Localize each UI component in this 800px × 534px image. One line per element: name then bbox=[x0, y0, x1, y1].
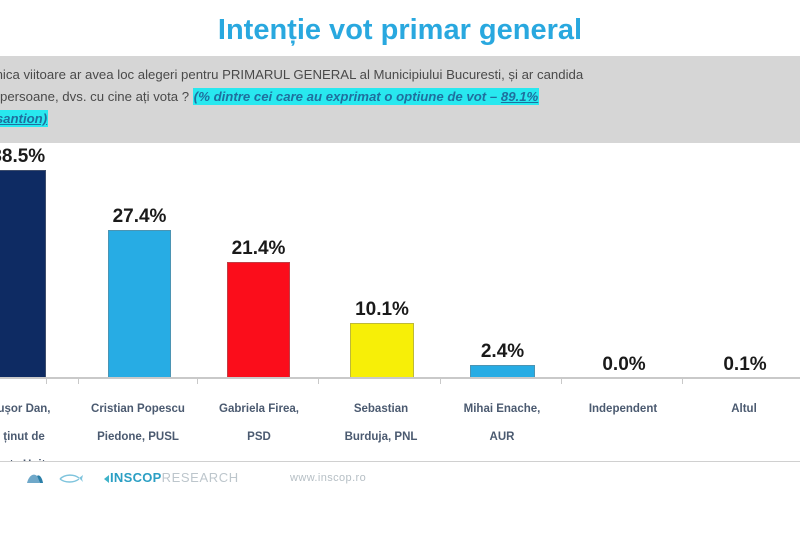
inscop-logo: INSCOPRESEARCH bbox=[104, 470, 239, 485]
x-label-cristian-popescu-piedone: Cristian Popescu Piedone, PUSL bbox=[78, 388, 198, 458]
x-label-line: Burduja, PNL bbox=[321, 430, 441, 444]
x-axis-tick bbox=[682, 378, 683, 384]
x-label-line: Piedone, PUSL bbox=[78, 430, 198, 444]
bar-sebastian-burduja bbox=[350, 323, 414, 378]
question-highlight: (% dintre cei care au exprimat o optiune… bbox=[193, 88, 539, 105]
fish-logo-icon bbox=[58, 473, 84, 484]
x-label-line: Mihai Enache, bbox=[442, 402, 562, 416]
x-label-line: Cristian Popescu bbox=[78, 402, 198, 416]
x-label-line: ușor Dan, bbox=[0, 402, 70, 416]
bar-cristian-popescu-piedone bbox=[108, 230, 171, 378]
x-label-gabriela-firea: Gabriela Firea, PSD bbox=[199, 388, 319, 458]
question-line-1: ă duminica viitoare ar avea loc alegeri … bbox=[0, 64, 800, 86]
bar-value-5: 2.4% bbox=[481, 341, 524, 363]
slide-root: Intenție vot primar general ă duminica v… bbox=[0, 0, 800, 534]
x-axis-tick bbox=[46, 378, 47, 384]
question-line-2-plain: toarele persoane, dvs. cu cine ați vota … bbox=[0, 89, 193, 104]
x-label-altul: Altul bbox=[685, 388, 800, 430]
question-highlight-text: (% dintre cei care au exprimat o optiune… bbox=[194, 89, 501, 104]
x-axis-line bbox=[0, 377, 800, 379]
question-line-2: toarele persoane, dvs. cu cine ați vota … bbox=[0, 86, 800, 108]
x-axis-tick bbox=[561, 378, 562, 384]
bottom-spacer bbox=[0, 501, 800, 534]
bar-gabriela-firea bbox=[227, 262, 290, 378]
inscop-brand-main: INSCOP bbox=[110, 470, 162, 485]
footer: INSCOPRESEARCH www.inscop.ro bbox=[0, 461, 800, 502]
question-line-3: total esantion) bbox=[0, 108, 800, 130]
x-label-line: AUR bbox=[442, 430, 562, 444]
x-label-line: Gabriela Firea, bbox=[199, 402, 319, 416]
x-axis-tick bbox=[78, 378, 79, 384]
question-banner: ă duminica viitoare ar avea loc alegeri … bbox=[0, 56, 800, 143]
question-percent: 89.1% bbox=[501, 89, 538, 104]
x-axis-labels: ușor Dan, ținut de apta Unita , PMP, FD)… bbox=[0, 388, 800, 461]
bar-value-2: 27.4% bbox=[113, 206, 167, 228]
bar-nicusor-dan bbox=[0, 170, 46, 378]
x-label-line: Altul bbox=[685, 402, 800, 416]
plot-area: 38.5% 27.4% 21.4% 10.1% 2.4% bbox=[0, 143, 800, 378]
bar-slot-2: 27.4% bbox=[108, 143, 171, 378]
x-axis-tick bbox=[197, 378, 198, 384]
bar-slot-6: 0.0% bbox=[592, 143, 656, 378]
x-axis-tick bbox=[440, 378, 441, 384]
triangle-icon bbox=[104, 475, 109, 483]
bar-slot-5: 2.4% bbox=[470, 143, 535, 378]
bar-value-4: 10.1% bbox=[355, 299, 409, 321]
page-title: Intenție vot primar general bbox=[0, 8, 800, 52]
bar-slot-3: 21.4% bbox=[227, 143, 290, 378]
bar-value-7: 0.1% bbox=[723, 354, 766, 376]
x-label-line: ținut de bbox=[0, 430, 70, 444]
x-label-mihai-enache: Mihai Enache, AUR bbox=[442, 388, 562, 458]
bar-slot-7: 0.1% bbox=[713, 143, 777, 378]
bar-value-6: 0.0% bbox=[602, 354, 645, 376]
bar-value-1: 38.5% bbox=[0, 146, 45, 168]
bar-slot-4: 10.1% bbox=[350, 143, 414, 378]
bar-value-3: 21.4% bbox=[232, 238, 286, 260]
x-label-independent: Independent bbox=[563, 388, 683, 430]
hill-logo-icon bbox=[26, 472, 44, 484]
question-text: ă duminica viitoare ar avea loc alegeri … bbox=[0, 64, 800, 130]
bar-slot-1: 38.5% bbox=[0, 143, 46, 378]
x-label-line: PSD bbox=[199, 430, 319, 444]
x-label-sebastian-burduja: Sebastian Burduja, PNL bbox=[321, 388, 441, 458]
site-url: www.inscop.ro bbox=[290, 472, 366, 484]
page-title-text: Intenție vot primar general bbox=[218, 14, 582, 47]
x-axis-tick bbox=[318, 378, 319, 384]
bar-chart: 38.5% 27.4% 21.4% 10.1% 2.4% bbox=[0, 143, 800, 461]
x-label-line: Independent bbox=[563, 402, 683, 416]
x-label-line: Sebastian bbox=[321, 402, 441, 416]
inscop-brand-sub: RESEARCH bbox=[162, 470, 239, 485]
question-highlight-2: total esantion) bbox=[0, 110, 48, 127]
